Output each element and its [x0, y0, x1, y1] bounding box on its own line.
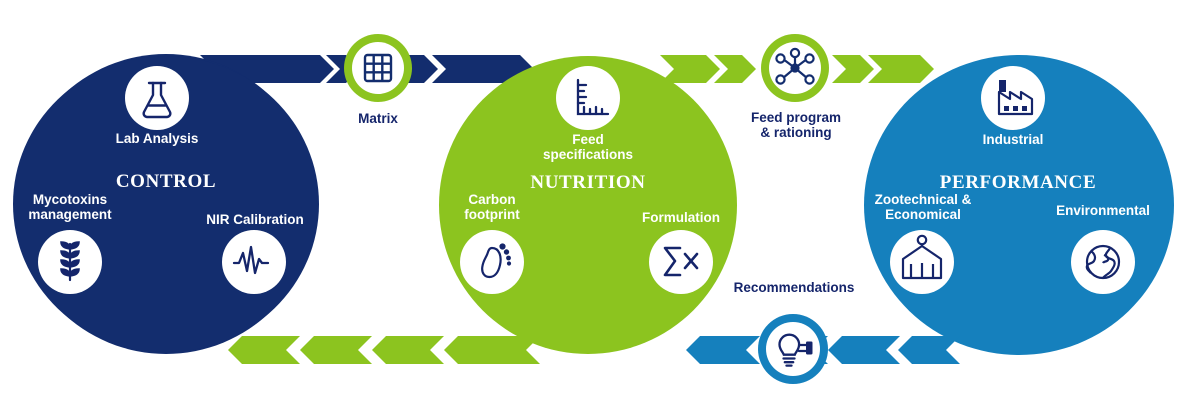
diagram-canvas: Lab Analysis CONTROL Mycotoxins manageme…	[0, 0, 1180, 406]
connector-label-line2: & rationing	[722, 125, 870, 140]
connector-label-recommendations: Recommendations	[699, 280, 889, 295]
connector-recommendations[interactable]	[758, 314, 828, 384]
node-carbon-footprint[interactable]	[460, 230, 524, 294]
node-label-formulation: Formulation	[615, 210, 747, 225]
node-zootechnical-economical[interactable]	[890, 230, 954, 294]
hub-title-nutrition: NUTRITION	[518, 172, 658, 193]
node-label-mycotoxins-management: Mycotoxins management	[5, 192, 135, 222]
connector-label-line1: Feed program	[722, 110, 870, 125]
node-label-line1: Feed	[521, 132, 655, 147]
node-nir-calibration[interactable]	[222, 230, 286, 294]
node-label-carbon-footprint: Carbon footprint	[434, 192, 550, 222]
node-lab-analysis[interactable]	[125, 66, 189, 130]
node-label-line2: management	[5, 207, 135, 222]
top-right-arrows-a	[660, 55, 756, 83]
node-label-line2: specifications	[521, 147, 655, 162]
node-label-line2: Economical	[855, 207, 991, 222]
node-label-line1: Carbon	[434, 192, 550, 207]
connector-matrix[interactable]	[344, 34, 412, 102]
node-label-zootechnical-economical: Zootechnical & Economical	[855, 192, 991, 222]
diagram-vector-layer	[0, 0, 1180, 406]
hub-title-performance: PERFORMANCE	[932, 172, 1104, 193]
node-label-industrial: Industrial	[948, 132, 1078, 147]
top-right-arrows-b	[832, 55, 934, 83]
connector-label-matrix: Matrix	[318, 111, 438, 126]
node-label-environmental: Environmental	[1038, 203, 1168, 218]
node-label-nir-calibration: NIR Calibration	[186, 212, 324, 227]
hub-title-control: CONTROL	[96, 171, 236, 192]
connector-feed-program[interactable]	[761, 34, 829, 102]
node-label-line2: footprint	[434, 207, 550, 222]
node-industrial[interactable]	[981, 66, 1045, 130]
node-label-line1: Zootechnical &	[855, 192, 991, 207]
connector-label-feed-program: Feed program & rationing	[722, 110, 870, 140]
wheat-icon	[61, 242, 79, 280]
node-mycotoxins-management[interactable]	[38, 230, 102, 294]
node-label-feed-specifications: Feed specifications	[521, 132, 655, 162]
node-label-lab-analysis: Lab Analysis	[87, 131, 227, 146]
node-label-line1: Mycotoxins	[5, 192, 135, 207]
node-environmental[interactable]	[1071, 230, 1135, 294]
bottom-left-arrows	[228, 336, 540, 364]
node-feed-specifications[interactable]	[556, 66, 620, 130]
